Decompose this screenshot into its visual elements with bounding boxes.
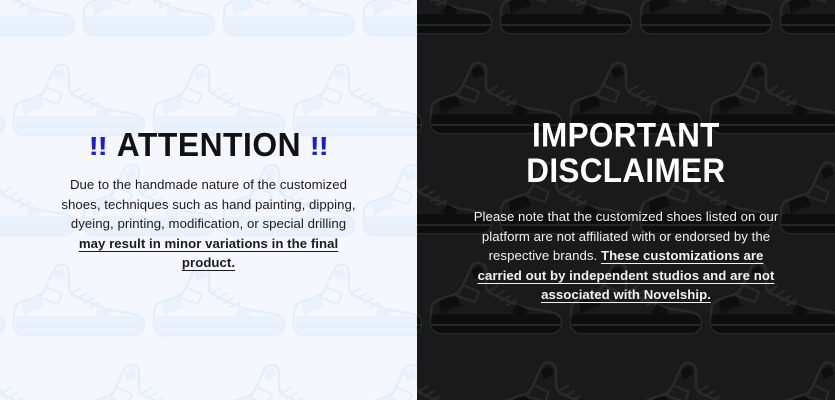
bang-left-icon: !!	[89, 133, 107, 159]
disclaimer-panel: IMPORTANT DISCLAIMER Please note that th…	[417, 0, 835, 400]
attention-body-emphasis: may result in minor variations in the fi…	[79, 236, 338, 271]
attention-body-normal: Due to the handmade nature of the custom…	[61, 177, 355, 231]
bang-right-icon: !!	[310, 133, 328, 159]
disclaimer-body: Please note that the customized shoes li…	[467, 207, 785, 305]
disclaimer-heading: IMPORTANT DISCLAIMER	[526, 118, 725, 189]
attention-body: Due to the handmade nature of the custom…	[59, 175, 359, 273]
attention-panel: !! ATTENTION !! Due to the handmade natu…	[0, 0, 417, 400]
attention-heading: !! ATTENTION !!	[90, 131, 327, 161]
disclaimer-heading-line2: DISCLAIMER	[526, 153, 725, 188]
disclaimer-heading-line1: IMPORTANT	[526, 118, 725, 153]
attention-heading-word: ATTENTION	[116, 129, 300, 163]
disclaimer-banner: !! ATTENTION !! Due to the handmade natu…	[0, 0, 835, 400]
